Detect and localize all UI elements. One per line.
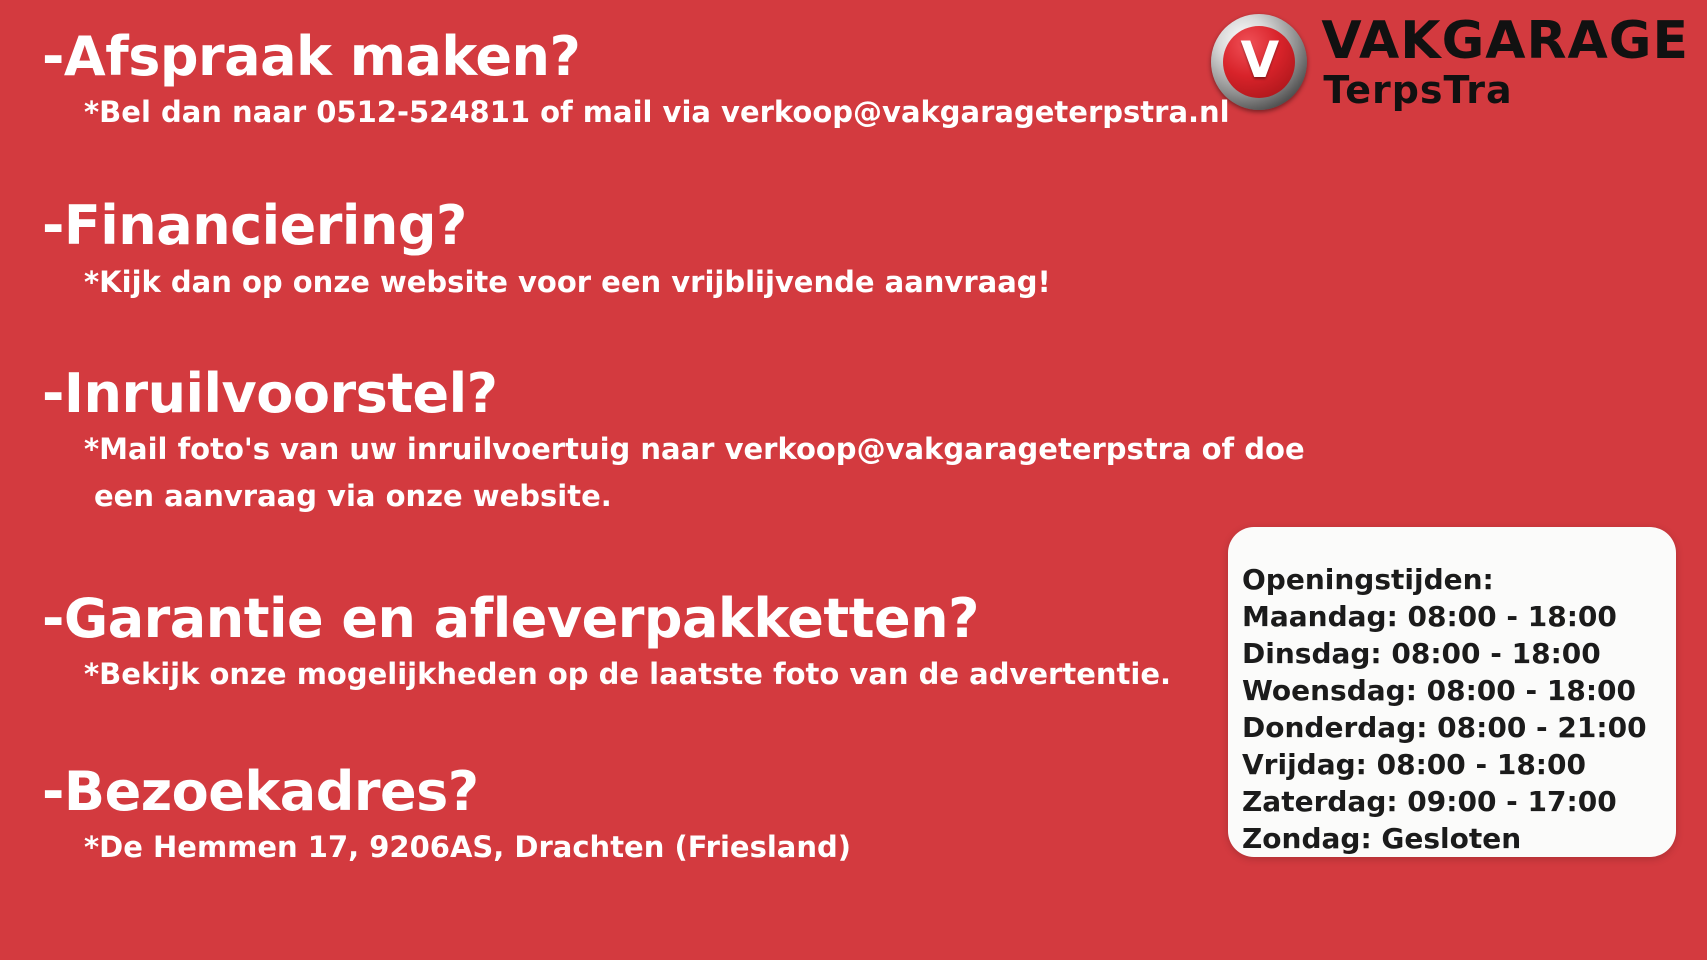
opening-hours-card: Openingstijden: Maandag: 08:00 - 18:00 D… bbox=[1228, 527, 1676, 857]
brand-name: VAKGARAGE bbox=[1321, 15, 1689, 67]
brand-location: TerpsTra bbox=[1323, 71, 1512, 109]
section-bezoekadres: -Bezoekadres? *De Hemmen 17, 9206AS, Dra… bbox=[42, 763, 1342, 868]
section-garantie: -Garantie en afleverpakketten? *Bekijk o… bbox=[42, 590, 1342, 695]
section-inruilvoorstel: -Inruilvoorstel? *Mail foto's van uw inr… bbox=[42, 365, 1342, 518]
section-financiering: -Financiering? *Kijk dan op onze website… bbox=[42, 197, 1342, 302]
section-line: *De Hemmen 17, 9206AS, Drachten (Friesla… bbox=[84, 827, 1342, 868]
opening-hours-row: Donderdag: 08:00 - 21:00 bbox=[1242, 709, 1676, 746]
section-line: een aanvraag via onze website. bbox=[94, 476, 1342, 517]
section-line: *Kijk dan op onze website voor een vrijb… bbox=[84, 262, 1342, 303]
section-heading: -Afspraak maken? bbox=[42, 28, 1342, 86]
section-heading: -Inruilvoorstel? bbox=[42, 365, 1342, 423]
section-line: *Bekijk onze mogelijkheden op de laatste… bbox=[84, 654, 1342, 695]
section-line: *Mail foto's van uw inruilvoertuig naar … bbox=[84, 429, 1342, 470]
poster-content: -Afspraak maken? *Bel dan naar 0512-5248… bbox=[42, 26, 1342, 869]
opening-hours-list: Openingstijden: Maandag: 08:00 - 18:00 D… bbox=[1228, 561, 1676, 857]
opening-hours-row: Zondag: Gesloten bbox=[1242, 820, 1676, 857]
section-line: *Bel dan naar 0512-524811 of mail via ve… bbox=[84, 92, 1342, 133]
section-heading: -Garantie en afleverpakketten? bbox=[42, 590, 1342, 648]
section-afspraak: -Afspraak maken? *Bel dan naar 0512-5248… bbox=[42, 28, 1342, 133]
section-heading: -Bezoekadres? bbox=[42, 763, 1342, 821]
opening-hours-row: Zaterdag: 09:00 - 17:00 bbox=[1242, 783, 1676, 820]
advertisement-poster: V VAKGARAGE TerpsTra -Afspraak maken? *B… bbox=[0, 0, 1707, 960]
opening-hours-row: Dinsdag: 08:00 - 18:00 bbox=[1242, 635, 1676, 672]
brand-wordmark: VAKGARAGE TerpsTra bbox=[1321, 15, 1689, 109]
opening-hours-row: Vrijdag: 08:00 - 18:00 bbox=[1242, 746, 1676, 783]
opening-hours-title: Openingstijden: bbox=[1242, 561, 1676, 598]
opening-hours-row: Woensdag: 08:00 - 18:00 bbox=[1242, 672, 1676, 709]
opening-hours-row: Maandag: 08:00 - 18:00 bbox=[1242, 598, 1676, 635]
section-heading: -Financiering? bbox=[42, 197, 1342, 255]
